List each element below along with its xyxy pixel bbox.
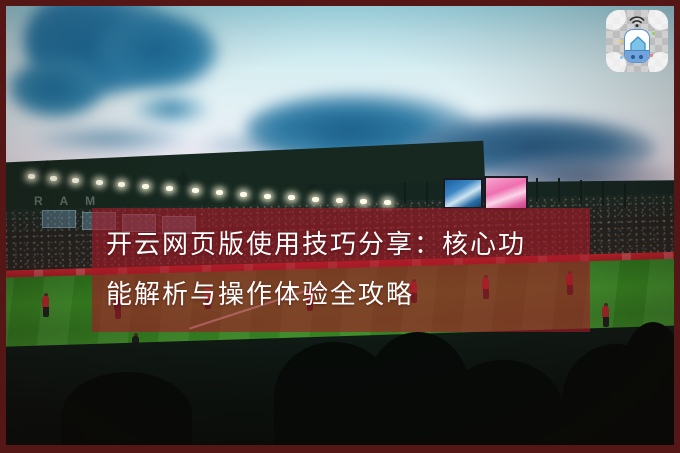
frame-border-bottom	[0, 445, 680, 453]
floodlight	[336, 198, 343, 203]
smart-speaker-icon	[624, 29, 650, 63]
pink-led-screen	[484, 176, 528, 210]
floodlight-pylon	[304, 182, 322, 198]
title-line-1: 开云网页版使用技巧分享：核心功	[106, 220, 576, 270]
frame-border-left	[0, 0, 6, 453]
sparkle-icon	[619, 40, 622, 43]
flagpole	[404, 182, 406, 204]
speaker-button	[639, 55, 643, 59]
sparkle-icon	[652, 32, 655, 35]
sparkle-icon	[620, 56, 623, 59]
floodlight-pylon	[38, 160, 56, 176]
floodlight	[312, 197, 319, 202]
flagpole	[536, 178, 538, 202]
floodlight	[118, 182, 125, 187]
frame-border-top	[0, 0, 680, 6]
floodlight-pylon	[174, 170, 192, 186]
title-banner: 开云网页版使用技巧分享：核心功 能解析与操作体验全攻略	[92, 208, 590, 332]
blue-led-screen	[443, 178, 483, 209]
floodlight	[142, 184, 149, 189]
floodlight	[360, 199, 367, 204]
speaker-base	[625, 50, 649, 62]
smart-home-hub-logo[interactable]	[606, 10, 668, 72]
floodlight	[28, 174, 35, 179]
cloud	[134, 94, 208, 124]
flagpole	[602, 182, 604, 206]
flagpole	[558, 178, 560, 202]
floodlight	[216, 190, 223, 195]
sparkle-icon	[650, 54, 653, 57]
flagpole	[426, 182, 428, 204]
floodlight	[96, 180, 103, 185]
logo-corner-decoration	[606, 10, 626, 30]
floodlight	[50, 176, 57, 181]
spectator-silhouette	[444, 360, 562, 445]
floodlight	[288, 195, 295, 200]
floodlight	[166, 186, 173, 191]
floodlight	[240, 192, 247, 197]
speaker-button	[631, 55, 635, 59]
frame-border-right	[674, 0, 680, 453]
flagpole	[580, 180, 582, 204]
cloud	[98, 12, 218, 90]
floodlight	[264, 194, 271, 199]
logo-corner-decoration	[606, 52, 626, 72]
cloud	[36, 126, 186, 152]
logo-corner-decoration	[648, 10, 668, 30]
wifi-icon	[628, 16, 646, 28]
stand-lettering: R A M	[34, 194, 102, 208]
cover-image-stage: R A M	[0, 0, 680, 453]
title-line-2: 能解析与操作体验全攻略	[106, 270, 576, 320]
floodlight	[384, 200, 391, 205]
stand-board	[42, 210, 76, 228]
floodlight	[192, 188, 199, 193]
cloud	[8, 58, 104, 118]
floodlight	[72, 178, 79, 183]
flagpole	[624, 184, 626, 208]
